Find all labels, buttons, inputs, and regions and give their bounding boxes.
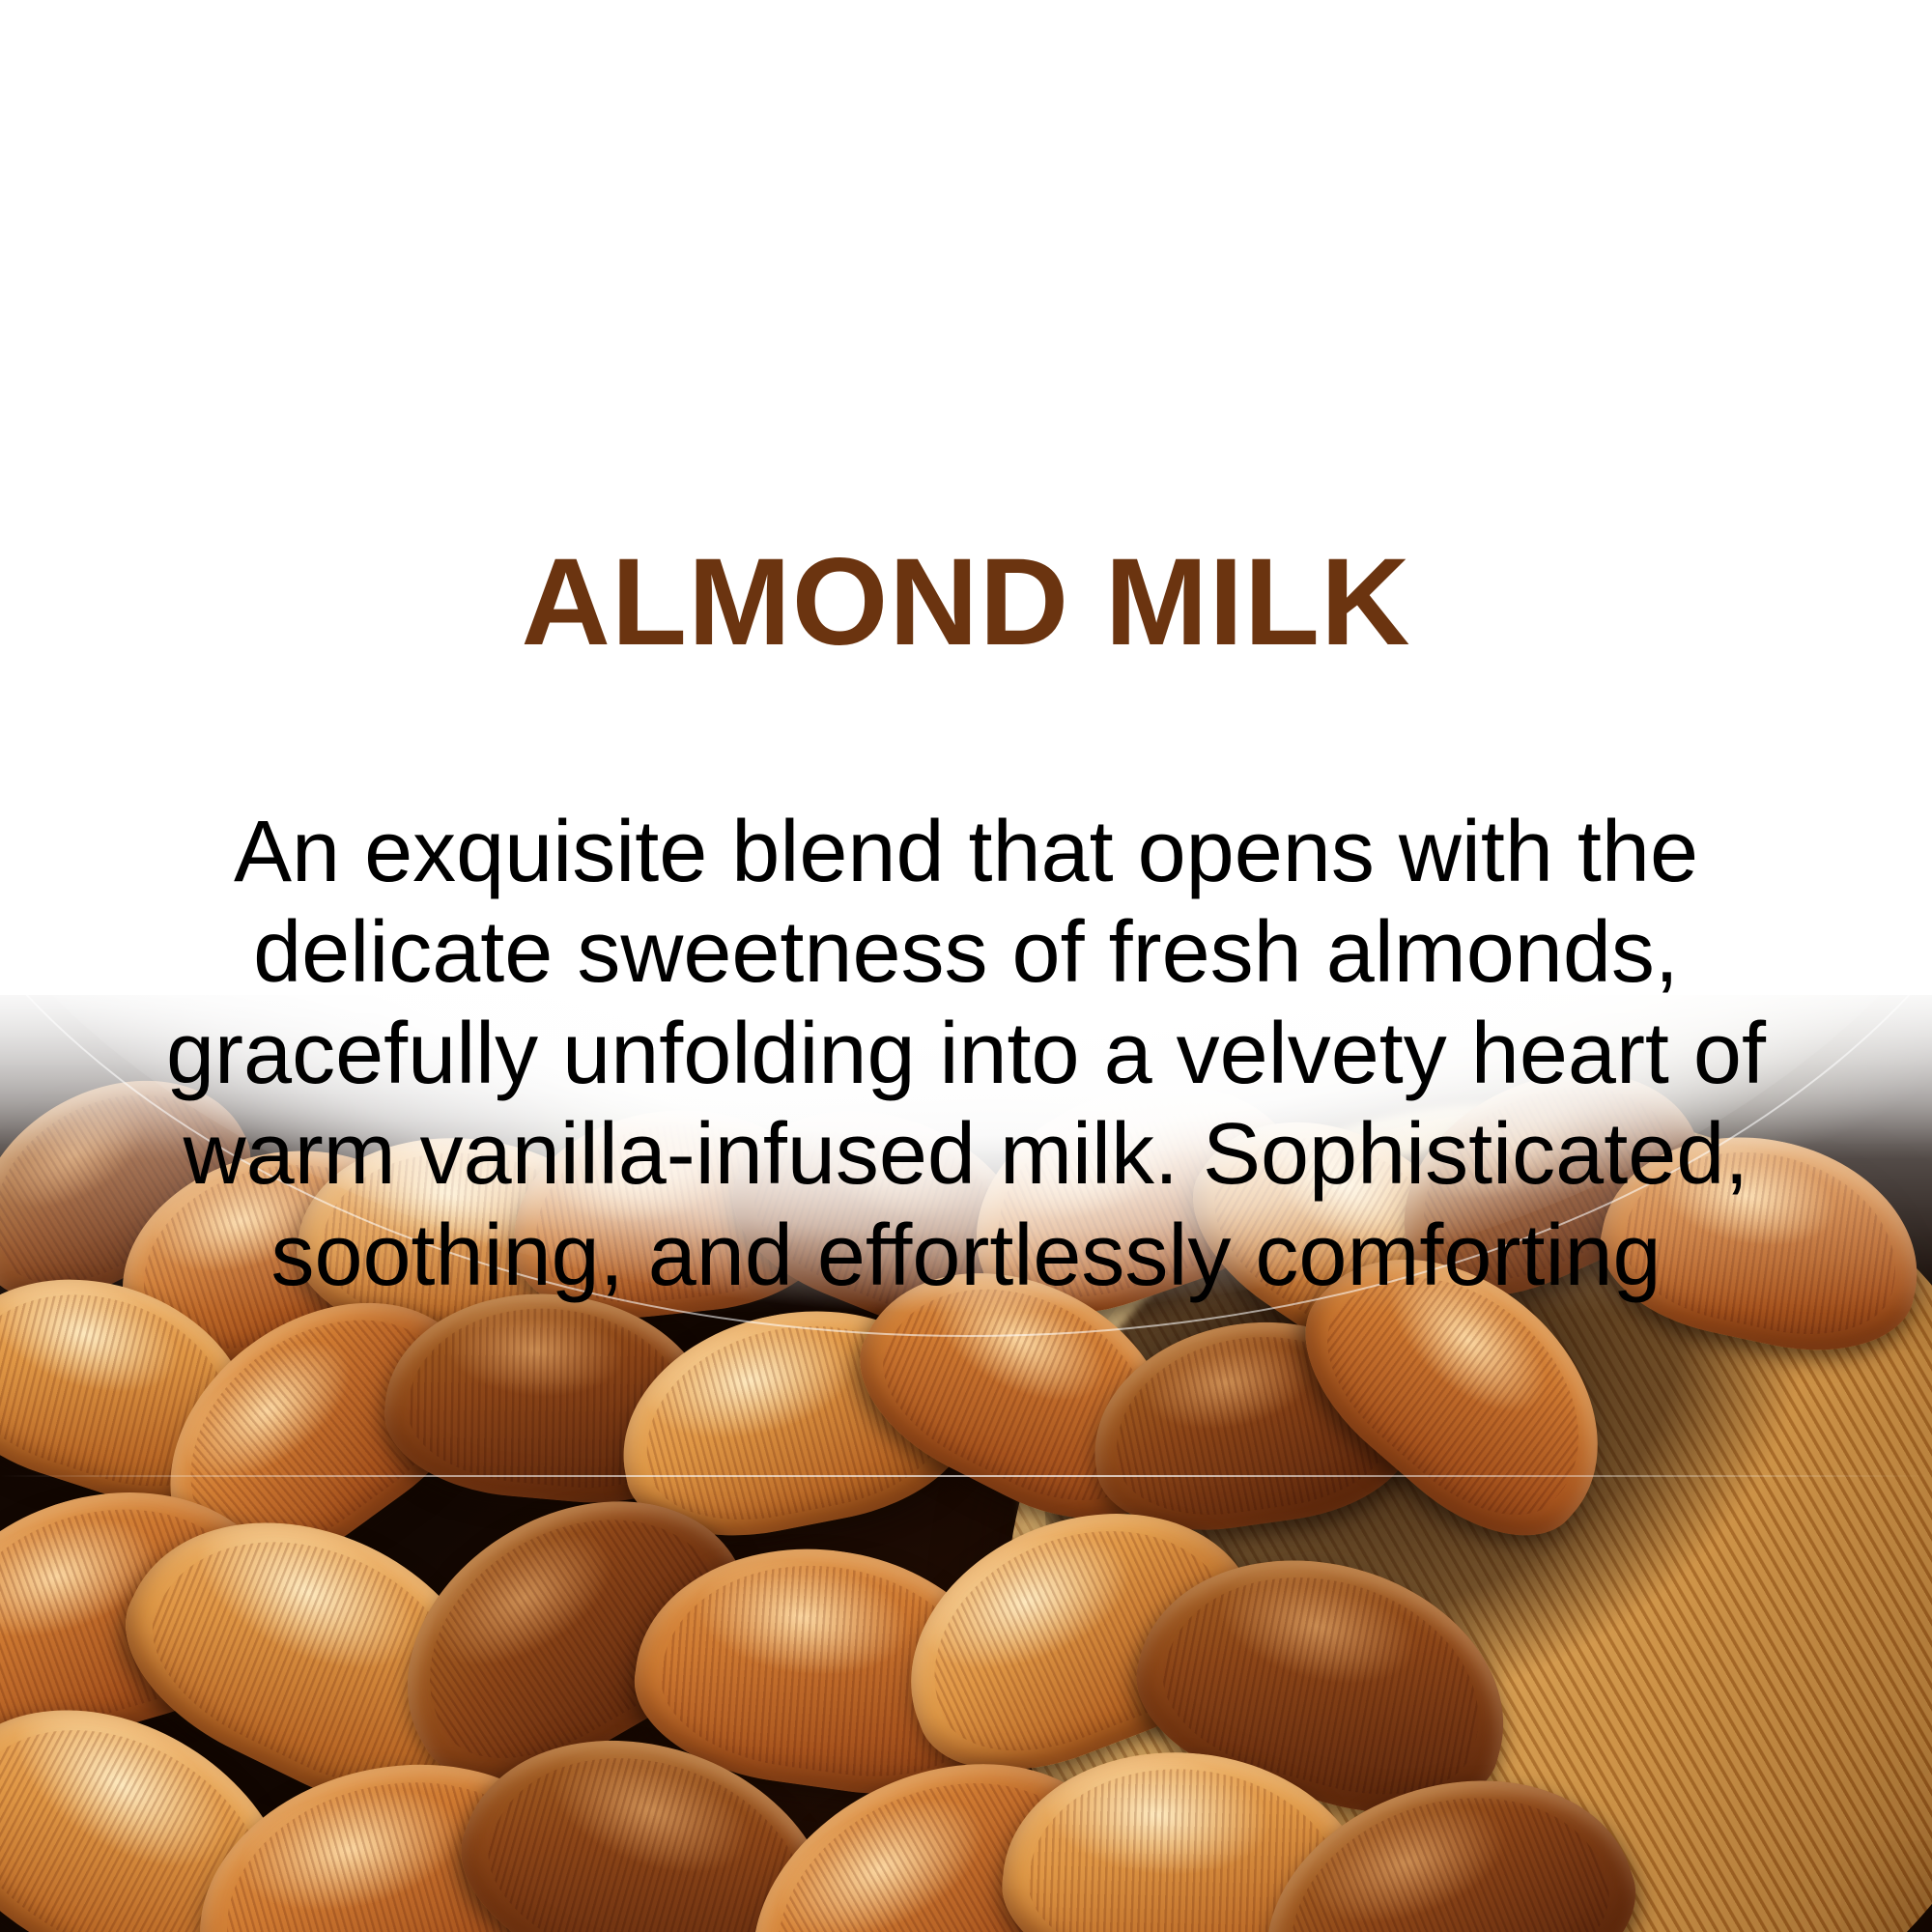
product-title: ALMOND MILK	[0, 541, 1932, 665]
product-card: ALMOND MILK An exquisite blend that open…	[0, 0, 1932, 1932]
text-layer: ALMOND MILK An exquisite blend that open…	[0, 0, 1932, 1932]
product-description: An exquisite blend that opens with the d…	[85, 802, 1847, 1306]
